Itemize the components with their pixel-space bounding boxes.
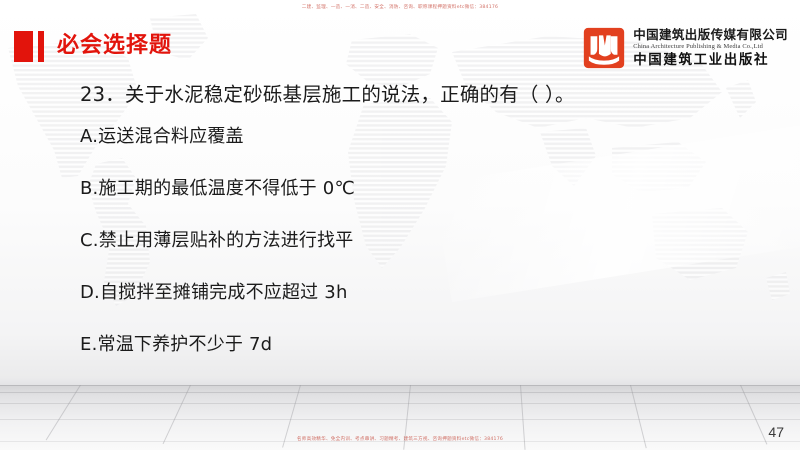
option-d[interactable]: D.自搅拌至摊铺完成不应超过 3h [80,278,720,304]
perspective-floor [0,385,800,450]
red-block-icon [14,31,33,62]
option-list: A.运送混合料应覆盖 B.施工期的最低温度不得低于 0℃ C.禁止用薄层贴补的方… [80,122,720,382]
publisher-company-cn: 中国建筑出版传媒有限公司 [633,28,788,42]
publisher-press-cn: 中国建筑工业出版社 [633,52,788,68]
page-number: 47 [768,424,784,440]
publisher-logo-text: 中国建筑出版传媒有限公司 China Architecture Publishi… [633,28,788,68]
title-banner: 必会选择题 [14,30,172,62]
page-title: 必会选择题 [57,35,172,57]
option-a[interactable]: A.运送混合料应覆盖 [80,122,720,148]
option-c[interactable]: C.禁止用薄层贴补的方法进行找平 [80,226,720,252]
option-b[interactable]: B.施工期的最低温度不得低于 0℃ [80,174,720,200]
publisher-logo: 中国建筑出版传媒有限公司 China Architecture Publishi… [583,27,788,69]
presentation-slide: 二建、监理、一造、一消、二造、安全、消防、咨询、职称课程押题资料etc微信：38… [0,0,800,450]
publisher-company-en: China Architecture Publishing & Media Co… [633,43,788,52]
red-bar-icon [38,31,44,62]
publisher-book-logo-icon [583,27,625,69]
option-e[interactable]: E.常温下养护不少于 7d [80,330,720,356]
question-text: 23．关于水泥稳定砂砾基层施工的说法，正确的有（ ）。 [80,78,575,107]
